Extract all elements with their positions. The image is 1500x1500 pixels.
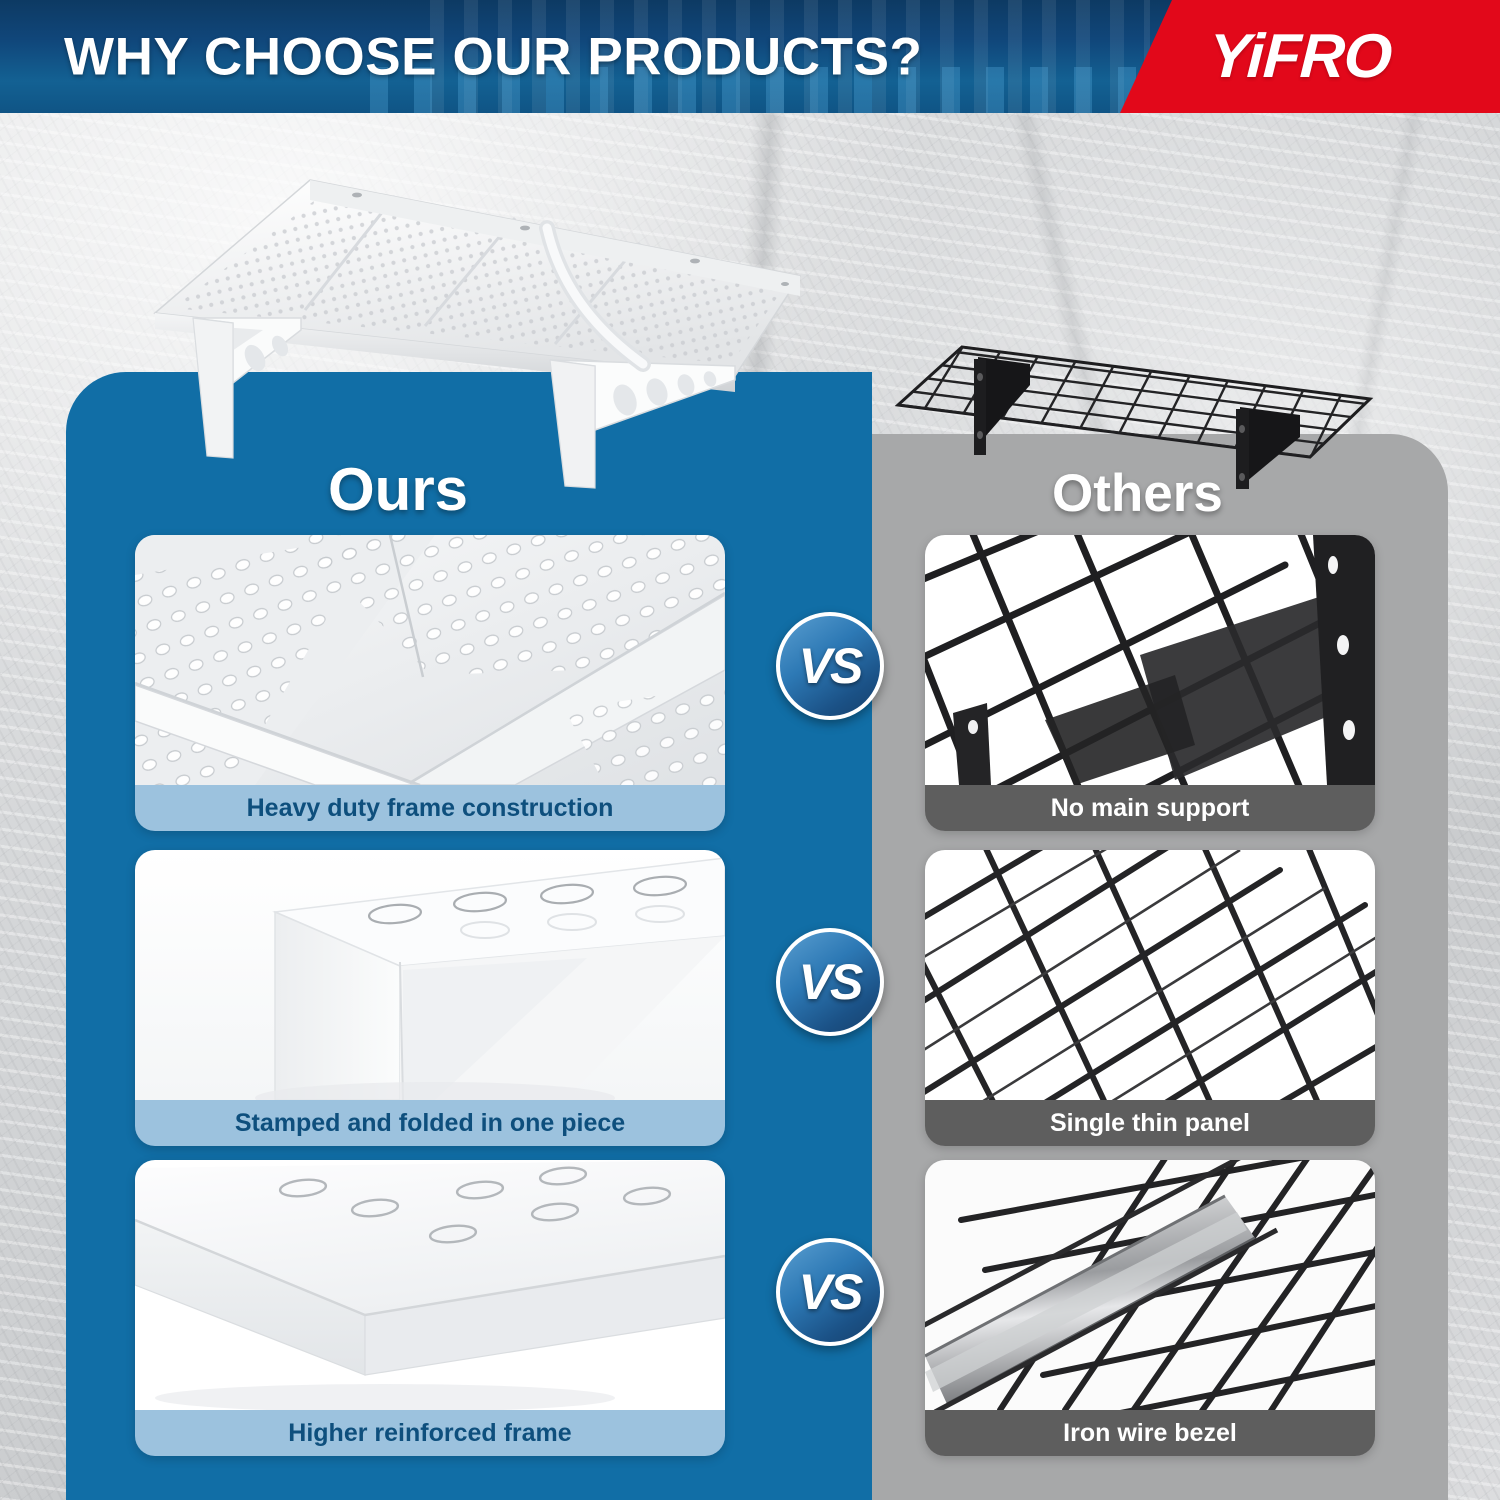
thumbnail-ours-3	[135, 1160, 725, 1410]
comparison-card-ours-1[interactable]: Heavy duty frame construction	[135, 535, 725, 831]
comparison-card-ours-3[interactable]: Higher reinforced frame	[135, 1160, 725, 1456]
brand-logo-text: YiFRO	[1207, 21, 1393, 92]
vs-badge-label-1: VS	[799, 637, 862, 695]
ours-heading: Ours	[328, 455, 468, 524]
thumbnail-ours-2	[135, 850, 725, 1100]
vs-badge-1: VS	[776, 612, 884, 720]
caption-ours-1: Heavy duty frame construction	[135, 785, 725, 831]
caption-others-2: Single thin panel	[925, 1100, 1375, 1146]
thumbnail-others-1	[925, 535, 1375, 785]
comparison-card-others-3[interactable]: Iron wire bezel	[925, 1160, 1375, 1456]
caption-others-3: Iron wire bezel	[925, 1410, 1375, 1456]
vs-badge-3: VS	[776, 1238, 884, 1346]
others-heading: Others	[1052, 463, 1223, 524]
thumbnail-ours-1	[135, 535, 725, 785]
comparison-card-others-1[interactable]: No main support	[925, 535, 1375, 831]
page-title: WHY CHOOSE OUR PRODUCTS?	[64, 26, 923, 87]
caption-ours-2: Stamped and folded in one piece	[135, 1100, 725, 1146]
comparison-card-ours-2[interactable]: Stamped and folded in one piece	[135, 850, 725, 1146]
thumbnail-others-2	[925, 850, 1375, 1100]
caption-ours-3: Higher reinforced frame	[135, 1410, 725, 1456]
vs-badge-2: VS	[776, 928, 884, 1036]
vs-badge-label-2: VS	[799, 953, 862, 1011]
hero-image-ours	[95, 168, 865, 498]
caption-others-1: No main support	[925, 785, 1375, 831]
header-banner: WHY CHOOSE OUR PRODUCTS? YiFRO	[0, 0, 1500, 113]
comparison-card-others-2[interactable]: Single thin panel	[925, 850, 1375, 1146]
thumbnail-others-3	[925, 1160, 1375, 1410]
brand-logo: YiFRO	[1100, 0, 1500, 113]
vs-badge-label-3: VS	[799, 1263, 862, 1321]
